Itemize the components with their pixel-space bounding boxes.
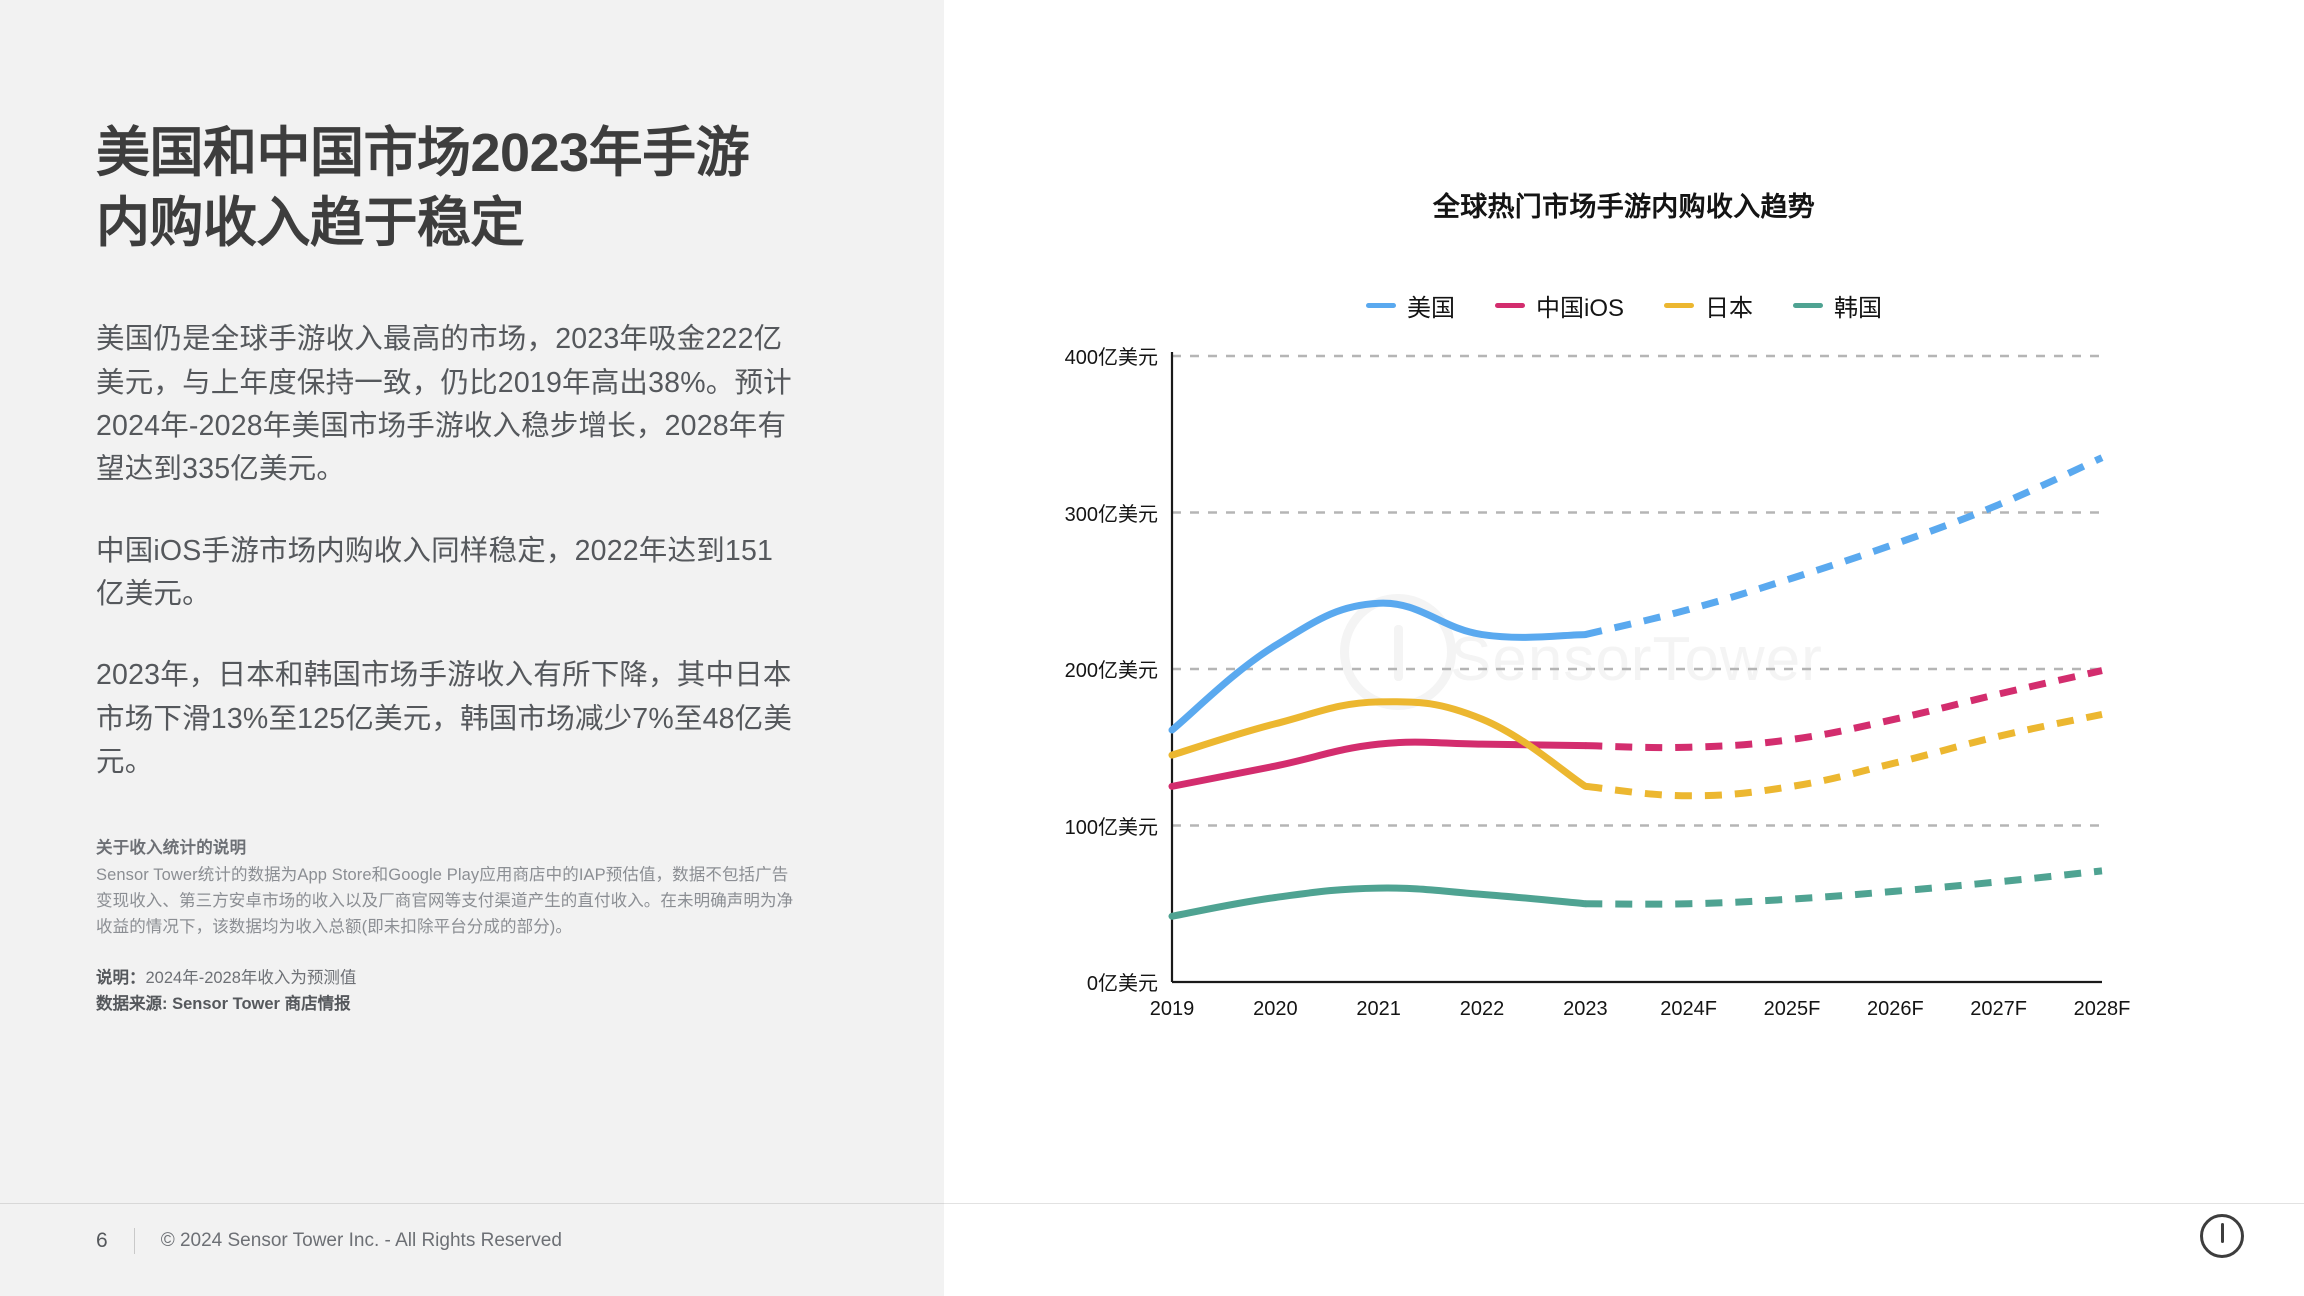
series-line-韩国-actual bbox=[1172, 888, 1585, 916]
y-tick-label-200: 200亿美元 bbox=[1065, 654, 1158, 683]
legend-swatch-icon bbox=[1366, 303, 1396, 308]
source-value: Sensor Tower 商店情报 bbox=[172, 995, 350, 1013]
series-line-中国iOS-actual bbox=[1172, 742, 1585, 786]
legend-swatch-icon bbox=[1664, 303, 1694, 308]
legend-item-1[interactable]: 中国iOS bbox=[1495, 288, 1624, 323]
x-tick-label-2019: 2019 bbox=[1122, 998, 1222, 1021]
notes-title: 关于收入统计的说明 bbox=[96, 834, 796, 858]
body-paragraph-3: 2023年，日本和韩国市场手游收入有所下降，其中日本市场下滑13%至125亿美元… bbox=[96, 654, 796, 784]
right-chart-panel: 全球热门市场手游内购收入趋势 美国中国iOS日本韩国 SensorTower 0… bbox=[944, 0, 2304, 1296]
legend-label: 中国iOS bbox=[1536, 288, 1624, 323]
footer-left: 6 © 2024 Sensor Tower Inc. - All Rights … bbox=[96, 1228, 562, 1254]
chart-svg bbox=[1160, 340, 2120, 1000]
legend-label: 韩国 bbox=[1834, 288, 1882, 323]
footer-separator bbox=[134, 1228, 135, 1254]
body-text-block: 美国仍是全球手游收入最高的市场，2023年吸金222亿美元，与上年度保持一致，仍… bbox=[96, 318, 796, 784]
legend-swatch-icon bbox=[1793, 303, 1823, 308]
x-tick-label-2027F: 2027F bbox=[1949, 998, 2049, 1021]
forecast-note-line: 说明：2024年-2028年收入为预测值 bbox=[96, 966, 796, 992]
body-paragraph-2: 中国iOS手游市场内购收入同样稳定，2022年达到151亿美元。 bbox=[96, 530, 796, 617]
source-label: 数据来源: bbox=[96, 995, 172, 1013]
page-title: 美国和中国市场2023年手游内购收入趋于稳定 bbox=[96, 0, 756, 258]
footer-divider-left bbox=[0, 1203, 944, 1204]
y-tick-label-100: 100亿美元 bbox=[1065, 811, 1158, 840]
legend-swatch-icon bbox=[1495, 303, 1525, 308]
x-tick-label-2028F: 2028F bbox=[2052, 998, 2152, 1021]
body-paragraph-1: 美国仍是全球手游收入最高的市场，2023年吸金222亿美元，与上年度保持一致，仍… bbox=[96, 318, 796, 491]
series-line-美国-forecast bbox=[1585, 458, 2102, 635]
x-tick-label-2020: 2020 bbox=[1225, 998, 1325, 1021]
series-line-韩国-forecast bbox=[1585, 871, 2102, 904]
series-line-美国-actual bbox=[1172, 603, 1585, 730]
y-tick-label-300: 300亿美元 bbox=[1065, 498, 1158, 527]
y-tick-label-400: 400亿美元 bbox=[1065, 341, 1158, 370]
series-line-中国iOS-forecast bbox=[1585, 671, 2102, 748]
forecast-note-value: 2024年-2028年收入为预测值 bbox=[146, 969, 357, 987]
x-tick-label-2022: 2022 bbox=[1432, 998, 1532, 1021]
page-number: 6 bbox=[96, 1229, 108, 1253]
chart-title: 全球热门市场手游内购收入趋势 bbox=[944, 185, 2304, 224]
methodology-notes: 关于收入统计的说明 Sensor Tower统计的数据为App Store和Go… bbox=[96, 834, 796, 1017]
legend-item-3[interactable]: 韩国 bbox=[1793, 288, 1882, 323]
notes-footer: 说明：2024年-2028年收入为预测值 数据来源: Sensor Tower … bbox=[96, 966, 796, 1017]
copyright-text: © 2024 Sensor Tower Inc. - All Rights Re… bbox=[161, 1230, 562, 1252]
series-line-日本-forecast bbox=[1585, 714, 2102, 795]
chart-legend: 美国中国iOS日本韩国 bbox=[944, 288, 2304, 323]
x-tick-label-2026F: 2026F bbox=[1845, 998, 1945, 1021]
legend-item-2[interactable]: 日本 bbox=[1664, 288, 1753, 323]
y-tick-label-0: 0亿美元 bbox=[1087, 967, 1158, 996]
legend-label: 美国 bbox=[1407, 288, 1455, 323]
x-tick-label-2025F: 2025F bbox=[1742, 998, 1842, 1021]
legend-label: 日本 bbox=[1705, 288, 1753, 323]
x-tick-label-2024F: 2024F bbox=[1639, 998, 1739, 1021]
sensor-tower-logo-icon bbox=[2200, 1214, 2244, 1258]
notes-body: Sensor Tower统计的数据为App Store和Google Play应… bbox=[96, 862, 796, 940]
left-text-panel: 美国和中国市场2023年手游内购收入趋于稳定 美国仍是全球手游收入最高的市场，2… bbox=[0, 0, 944, 1296]
line-chart: 0亿美元100亿美元200亿美元300亿美元400亿美元201920202021… bbox=[1160, 340, 2120, 1000]
x-tick-label-2023: 2023 bbox=[1535, 998, 1635, 1021]
footer-divider-right bbox=[944, 1203, 2304, 1204]
x-tick-label-2021: 2021 bbox=[1329, 998, 1429, 1021]
legend-item-0[interactable]: 美国 bbox=[1366, 288, 1455, 323]
source-line: 数据来源: Sensor Tower 商店情报 bbox=[96, 992, 796, 1018]
slide-root: 美国和中国市场2023年手游内购收入趋于稳定 美国仍是全球手游收入最高的市场，2… bbox=[0, 0, 2304, 1296]
logo-stem bbox=[2221, 1223, 2224, 1243]
forecast-note-label: 说明： bbox=[96, 969, 146, 987]
